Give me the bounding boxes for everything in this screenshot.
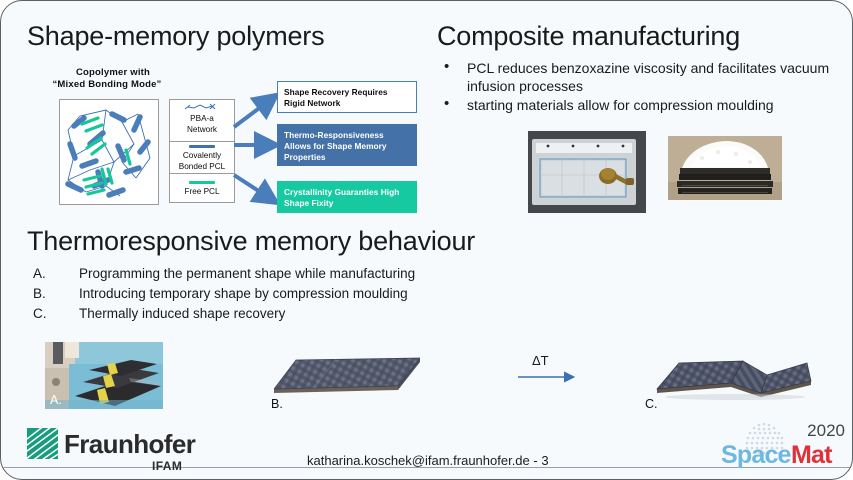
list-item: B. Introducing temporary shape by compre… — [31, 284, 551, 304]
spacemat-word-mat: Mat — [791, 441, 832, 470]
callout-crystallinity: Crystallinity Guaranties High Shape Fixi… — [277, 181, 417, 213]
photo-step-a — [45, 342, 163, 409]
photo-label-b: B. — [271, 397, 283, 411]
legend-label-free-pcl: Free PCL — [184, 187, 219, 196]
legend-label-covalent-line2: Bonded PCL — [179, 162, 225, 171]
polymer-network-schematic — [59, 99, 159, 205]
list-item: • starting materials allow for compressi… — [437, 96, 837, 114]
page-title-composite: Composite manufacturing — [437, 21, 740, 52]
legend-callout-connectors — [232, 79, 280, 219]
diagram-caption-line2: “Mixed Bonding Mode” — [47, 79, 167, 91]
callout-thermo-responsiveness: Thermo-Responsiveness Allows for Shape M… — [277, 124, 417, 166]
spacemat-logo: 2020 Space Mat — [707, 419, 847, 473]
squiggle-glyph — [170, 102, 234, 113]
delta-t-label: ΔT — [532, 353, 549, 368]
bullet-marker-icon: • — [444, 58, 449, 76]
legend-label-pba-a-line1: PBA-a — [190, 114, 214, 123]
page-title-thermoresponsive: Thermoresponsive memory behaviour — [27, 226, 475, 257]
list-item-label: PCL reduces benzoxazine viscosity and fa… — [467, 60, 829, 94]
list-item-marker: C. — [33, 304, 63, 324]
diagram-legend: PBA-a Network Covalently Bonded PCL Free… — [169, 99, 235, 203]
list-item-label: Programming the permanent shape while ma… — [79, 266, 415, 281]
legend-label-pba-a-line2: Network — [187, 125, 217, 134]
list-item-marker: B. — [33, 284, 63, 304]
legend-label-covalent-line1: Covalently — [183, 151, 221, 160]
bullet-marker-icon: • — [444, 95, 449, 113]
fraunhofer-logo: Fraunhofer IFAM — [27, 428, 202, 476]
list-item: C. Thermally induced shape recovery — [31, 304, 551, 324]
thermoresponsive-steps-list: A. Programming the permanent shape while… — [31, 264, 551, 324]
page-title-shape-memory: Shape-memory polymers — [27, 21, 324, 52]
photo-label-a: A. — [50, 393, 62, 407]
network-svg — [60, 100, 158, 204]
photo-step-c — [651, 353, 815, 401]
spacemat-word-space: Space — [721, 441, 791, 470]
callout-shape-recovery: Shape Recovery Requires Rigid Network — [277, 81, 417, 113]
delta-t-arrow: ΔT — [516, 353, 586, 387]
legend-item-covalent-pcl: Covalently Bonded PCL — [170, 142, 234, 174]
spacemat-year: 2020 — [807, 421, 845, 441]
vacuum-infusion-photo — [528, 131, 646, 213]
photo-label-c: C. — [645, 397, 658, 411]
contact-email: katharina.koschek@ifam.fraunhofer.de - 3 — [307, 453, 549, 468]
list-item: • PCL reduces benzoxazine viscosity and … — [437, 59, 837, 95]
fraunhofer-wordmark: Fraunhofer — [64, 429, 195, 460]
copolymer-diagram: Copolymer with “Mixed Bonding Mode” — [27, 61, 417, 221]
list-item: A. Programming the permanent shape while… — [31, 264, 551, 284]
legend-item-pba-a: PBA-a Network — [170, 100, 234, 142]
list-item-marker: A. — [33, 264, 63, 284]
presentation-slide: Shape-memory polymers Composite manufact… — [0, 0, 853, 480]
list-item-label: Thermally induced shape recovery — [79, 306, 285, 321]
photo-step-b — [274, 356, 420, 396]
prepreg-stack-photo — [668, 136, 782, 200]
list-item-label: Introducing temporary shape by compressi… — [79, 286, 408, 301]
legend-item-free-pcl: Free PCL — [170, 174, 234, 202]
diagram-caption-line1: Copolymer with — [53, 67, 173, 79]
fraunhofer-institute-label: IFAM — [152, 459, 182, 473]
list-item-label: starting materials allow for compression… — [467, 97, 774, 113]
teal-bar-swatch — [189, 181, 215, 184]
blue-bar-swatch — [189, 145, 215, 148]
composite-bullet-list: • PCL reduces benzoxazine viscosity and … — [437, 59, 837, 115]
fraunhofer-mark-icon — [27, 428, 58, 459]
